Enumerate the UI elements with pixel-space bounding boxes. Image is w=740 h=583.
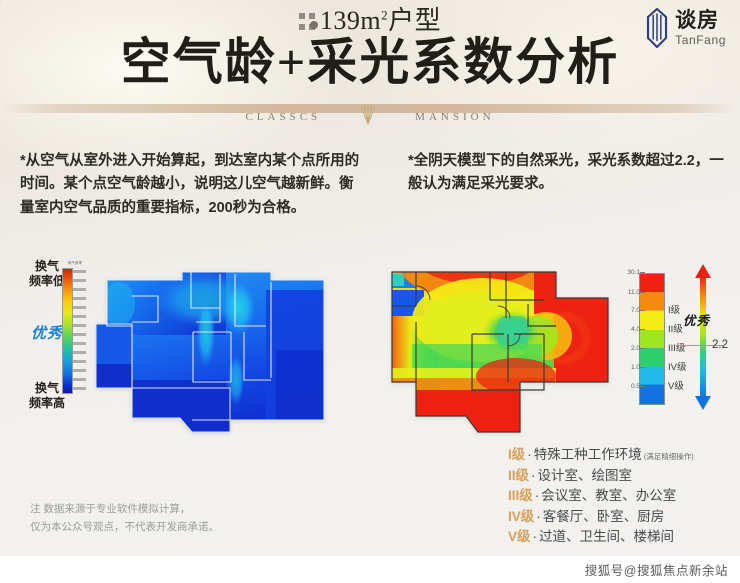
daylight-factor-floorplan-heatmap	[386, 260, 611, 440]
tick-3: 4.0	[612, 327, 640, 334]
daylight-gradient-arrow-icon	[692, 262, 714, 412]
grade-label-1: I级	[668, 306, 680, 316]
legend-separator: ·	[531, 466, 536, 487]
legend-level: II级	[508, 466, 529, 487]
tick-2: 7.0	[612, 308, 640, 315]
classics-left-text: CLASSCS	[245, 111, 321, 123]
legend-description: 设计室、绘图室	[538, 466, 633, 487]
size-subtitle-row: 139m2户型	[0, 8, 740, 34]
daylight-colorbar-ticks: 30.1 11.0 7.0 4.0 2.0 1.0 0.5	[610, 268, 640, 410]
size-value: 139m	[320, 6, 381, 35]
daylight-excellent-marker: 优秀	[683, 310, 710, 329]
grade-label-5: V级	[668, 382, 684, 392]
tick-0: 30.1	[612, 270, 640, 277]
legend-separator: ·	[536, 507, 541, 528]
tick-5: 1.0	[612, 365, 640, 372]
brand-name-cn: 谈房	[675, 10, 726, 31]
brand-logo: 谈房 TanFang	[646, 8, 726, 48]
page-title: 空气龄+采光系数分析	[0, 34, 740, 90]
legend-separator: ·	[533, 527, 538, 548]
legend-row: V级 · 过道、卫生间、楼梯间	[508, 527, 740, 548]
airage-colorbar	[62, 268, 73, 394]
classics-mansion-row: CLASSCS MANSION	[0, 108, 740, 126]
threshold-value-label: 2.2	[712, 339, 728, 351]
stamp-seal-icon	[299, 13, 315, 30]
legend-description: 会议室、教室、办公室	[541, 486, 676, 507]
legend-description: 特殊工种工作环境	[534, 445, 642, 466]
legend-level: III级	[508, 486, 533, 507]
air-age-description: *从空气从室外进入开始算起，到达室内某个点所用的时间。某个点空气龄越小，说明这儿…	[20, 150, 360, 220]
grade-label-2: II级	[668, 325, 683, 335]
header: 139m2户型 空气龄+采光系数分析 谈房 TanFang CLASSCS	[0, 0, 740, 118]
air-age-floorplan-heatmap	[96, 260, 346, 440]
grade-label-4: IV级	[668, 363, 686, 373]
watermark-text: 搜狐号@搜狐焦点新余站	[585, 560, 728, 579]
legend-separator: ·	[535, 486, 540, 507]
legend-level: I级	[508, 445, 525, 466]
airage-colorbar-ticks	[73, 266, 89, 396]
legend-description: 客餐厅、卧室、厨房	[543, 507, 665, 528]
daylight-description: *全阴天模型下的自然采光，采光系数超过2.2，一般认为满足采光要求。	[408, 150, 728, 197]
fan-ornament-icon	[355, 102, 381, 126]
legend-row: II级 · 设计室、绘图室	[508, 466, 740, 487]
tanfang-shield-icon	[646, 8, 668, 48]
classics-right-text: MANSION	[415, 111, 494, 123]
footnote-disclaimer: 注 数据来源于专业软件模拟计算， 仅为本公众号观点，不代表开发商承诺。	[30, 500, 330, 536]
airage-colorbar-caption: 换气频率	[62, 260, 88, 265]
legend-row: III级 · 会议室、教室、办公室	[508, 486, 740, 507]
grade-legend-list: I级 · 特殊工种工作环境 (满足精细操作) II级 · 设计室、绘图室 III…	[508, 445, 740, 548]
legend-level: V级	[508, 527, 531, 548]
legend-separator: ·	[527, 445, 532, 466]
tick-1: 11.0	[612, 290, 640, 297]
legend-row: IV级 · 客餐厅、卧室、厨房	[508, 507, 740, 528]
legend-row: I级 · 特殊工种工作环境 (满足精细操作)	[508, 445, 740, 466]
legend-description: 过道、卫生间、楼梯间	[539, 527, 674, 548]
legend-level: IV级	[508, 507, 534, 528]
legend-annotation: (满足精细操作)	[644, 451, 694, 462]
size-suffix: 户型	[388, 6, 441, 35]
tick-4: 2.0	[612, 346, 640, 353]
brand-name-en: TanFang	[675, 34, 726, 46]
watermark-bar: 搜狐号@搜狐焦点新余站	[0, 556, 740, 583]
tick-6: 0.5	[612, 384, 640, 391]
size-title: 139m2户型	[320, 8, 441, 34]
slide-root: 139m2户型 空气龄+采光系数分析 谈房 TanFang CLASSCS	[0, 0, 740, 583]
